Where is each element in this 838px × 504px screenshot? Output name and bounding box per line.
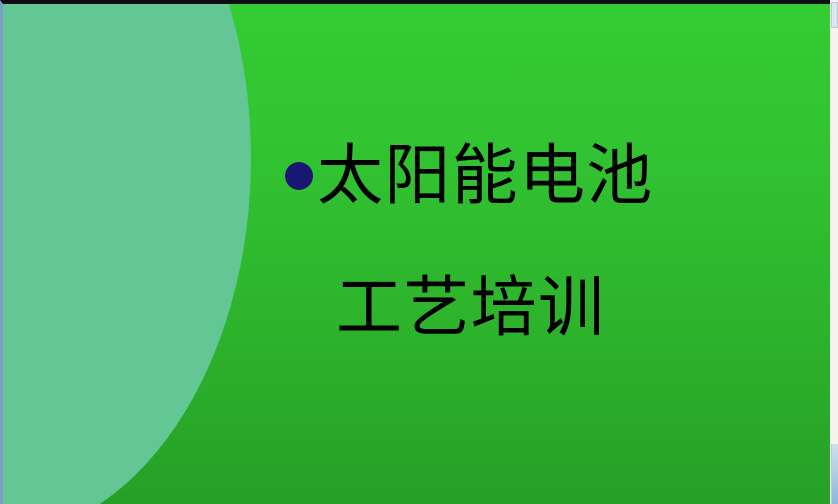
slide-content: 太阳能电池 工艺培训 — [3, 4, 830, 504]
title-line-2[interactable]: 工艺培训 — [336, 270, 605, 346]
title-line-1[interactable]: 太阳能电池 — [285, 138, 654, 214]
presentation-viewer: 太阳能电池 工艺培训 — [0, 0, 838, 504]
scrollbar-thumb-top[interactable] — [831, 2, 838, 28]
bullet-point-icon — [285, 162, 313, 190]
slide-canvas[interactable]: 太阳能电池 工艺培训 — [0, 0, 830, 504]
right-edge-strip — [830, 0, 838, 504]
title-line-1-text: 太阳能电池 — [317, 138, 654, 214]
scrollbar-thumb-bottom[interactable] — [831, 444, 838, 504]
